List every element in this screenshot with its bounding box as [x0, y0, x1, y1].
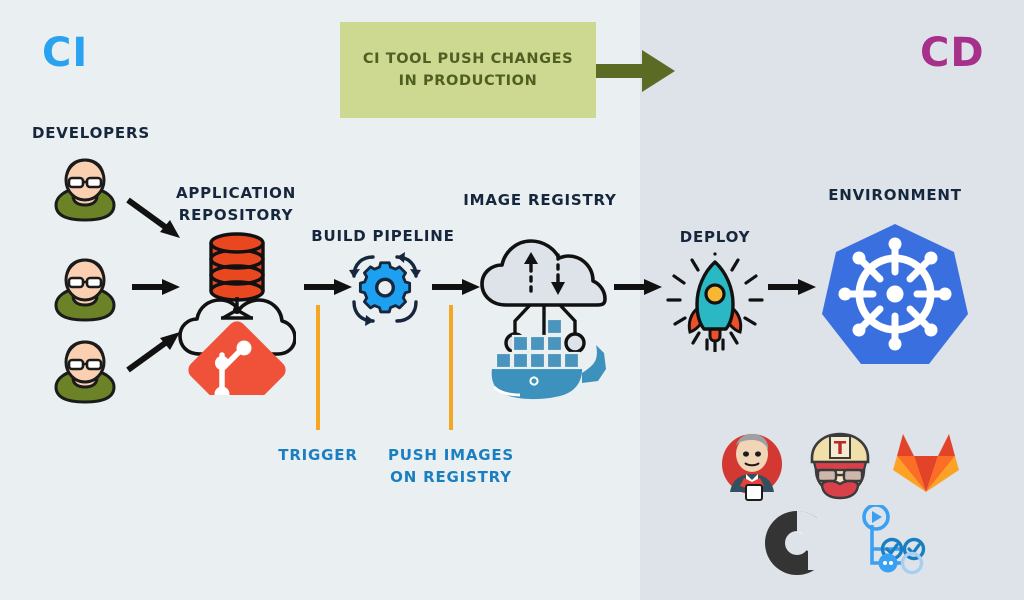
developer-avatar-icon — [50, 340, 120, 404]
push-images-label-line2: ON REGISTRY — [371, 467, 531, 489]
push-images-label-line1: PUSH IMAGES — [371, 445, 531, 467]
banner-text: CI TOOL PUSH CHANGES IN PRODUCTION — [363, 48, 573, 93]
developer-avatar-icon — [50, 158, 120, 222]
docker-whale-cloud-icon — [478, 233, 608, 403]
banner-arrow-icon — [596, 48, 676, 94]
svg-text:T: T — [834, 438, 847, 459]
developer-to-repo-arrow-icon — [130, 277, 182, 297]
deploy-label: DEPLOY — [655, 227, 775, 249]
push-images-label: PUSH IMAGES ON REGISTRY — [371, 445, 531, 489]
application-repository-label: APPLICATION REPOSITORY — [157, 183, 315, 227]
rocket-icon — [660, 248, 770, 352]
git-cloud-repository-icon — [178, 230, 296, 395]
application-repository-label-line2: REPOSITORY — [157, 205, 315, 227]
ci-tool-push-banner: CI TOOL PUSH CHANGES IN PRODUCTION — [340, 22, 596, 118]
kubernetes-helm-icon — [820, 222, 970, 372]
registry-to-deploy-arrow-icon — [612, 277, 664, 297]
build-pipeline-label: BUILD PIPELINE — [303, 226, 463, 248]
developers-label: DEVELOPERS — [0, 123, 168, 145]
image-registry-label: IMAGE REGISTRY — [460, 190, 620, 212]
travis-ci-logo-icon: T — [804, 428, 876, 500]
cd-phase-label: CD — [920, 33, 985, 73]
cicd-diagram-canvas: CI CD CI TOOL PUSH CHANGES IN PRODUCTION… — [0, 0, 1024, 600]
jenkins-logo-icon — [716, 430, 788, 502]
ci-phase-label: CI — [42, 33, 88, 73]
developer-to-repo-arrow-icon — [126, 330, 182, 374]
push-images-marker-line — [449, 305, 453, 430]
circleci-logo-icon — [764, 510, 830, 576]
deploy-to-environment-arrow-icon — [766, 277, 818, 297]
build-to-registry-arrow-icon — [430, 277, 482, 297]
trigger-marker-line — [316, 305, 320, 430]
azure-pipelines-logo-icon — [854, 505, 930, 577]
application-repository-label-line1: APPLICATION — [157, 183, 315, 205]
environment-label: ENVIRONMENT — [805, 185, 985, 207]
banner-line-1: CI TOOL PUSH CHANGES — [363, 48, 573, 70]
banner-line-2: IN PRODUCTION — [363, 70, 573, 92]
developer-avatar-icon — [50, 258, 120, 322]
gear-cycle-icon — [346, 250, 424, 328]
gitlab-logo-icon — [892, 428, 960, 496]
